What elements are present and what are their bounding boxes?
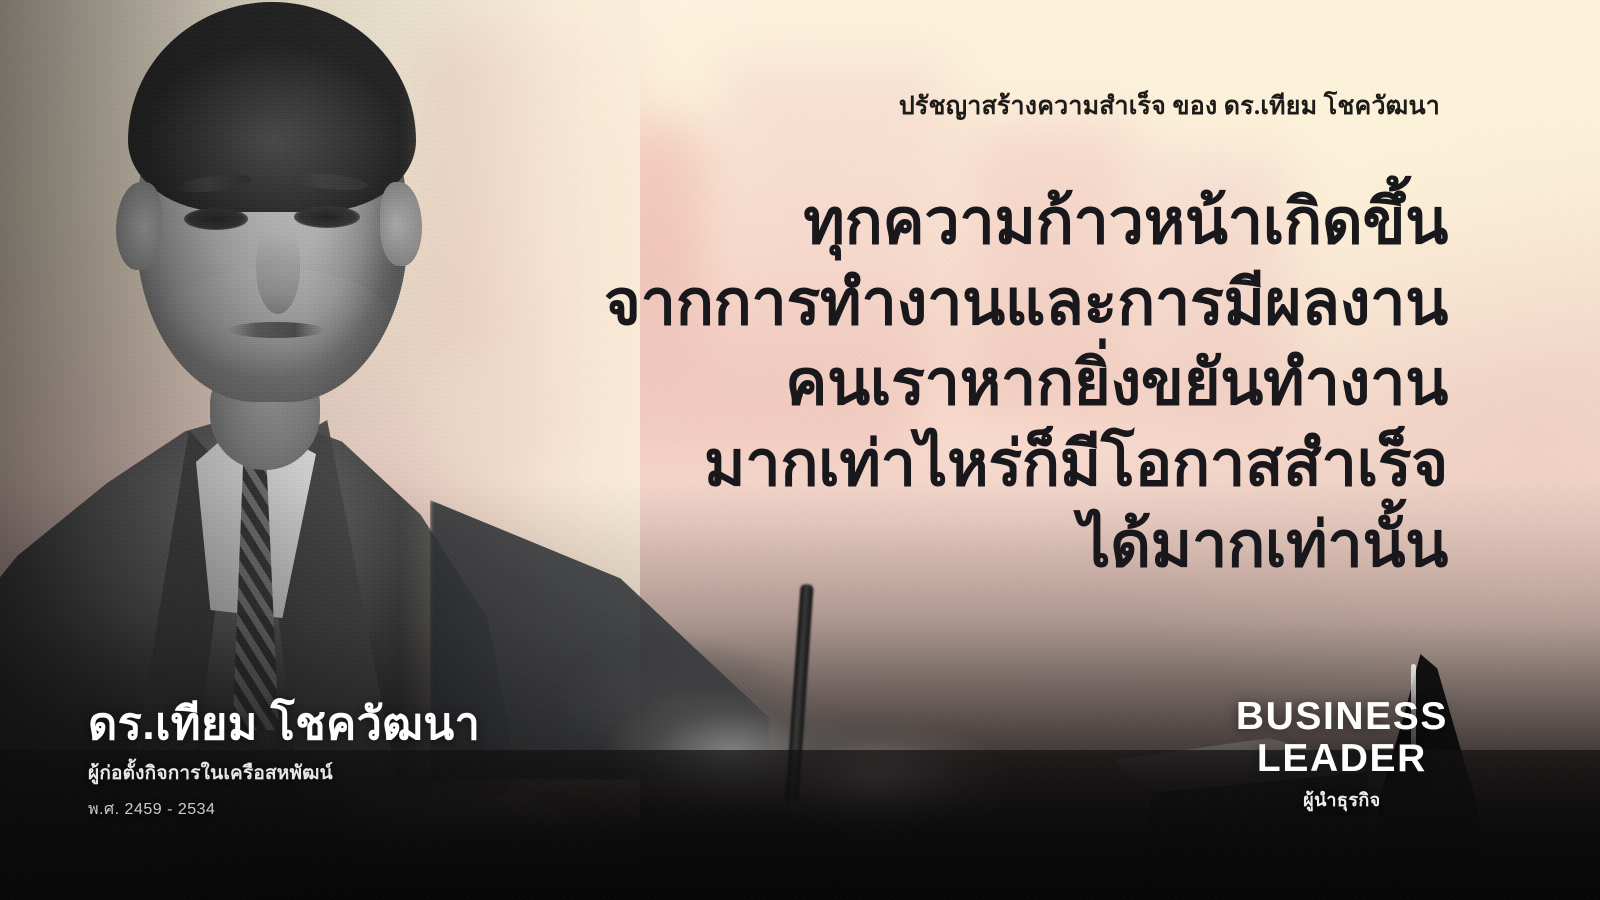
quote-line-4: มากเท่าไหร่ก็มีโอกาสสำเร็จ <box>448 424 1448 505</box>
author-years: พ.ศ. 2459 - 2534 <box>88 797 480 822</box>
header-kicker: ปรัชญาสร้างความสำเร็จ ของ ดร.เทียม โชควั… <box>899 86 1440 126</box>
author-role: ผู้ก่อตั้งกิจการในเครือสหพัฒน์ <box>88 758 480 788</box>
brand-subtitle: ผู้นำธุรกิจ <box>1236 785 1448 814</box>
author-name: ดร.เทียม โชควัฒนา <box>88 698 480 750</box>
poster-canvas: ปรัชญาสร้างความสำเร็จ ของ ดร.เทียม โชควั… <box>0 0 1600 900</box>
quote-line-1: ทุกความก้าวหน้าเกิดขึ้น <box>448 182 1448 263</box>
quote-block: ทุกความก้าวหน้าเกิดขึ้น จากการทำงานและกา… <box>448 182 1448 585</box>
brand-logo: BUSINESS LEADER ผู้นำธุรกิจ <box>1236 696 1448 814</box>
quote-line-3: คนเราหากยิ่งขยันทำงาน <box>448 343 1448 424</box>
brand-line-1: BUSINESS <box>1236 696 1448 737</box>
brand-line-2: LEADER <box>1236 738 1448 779</box>
quote-line-2: จากการทำงานและการมีผลงาน <box>448 263 1448 344</box>
quote-line-5: ได้มากเท่านั้น <box>448 505 1448 586</box>
attribution-block: ดร.เทียม โชควัฒนา ผู้ก่อตั้งกิจการในเครื… <box>88 698 480 822</box>
